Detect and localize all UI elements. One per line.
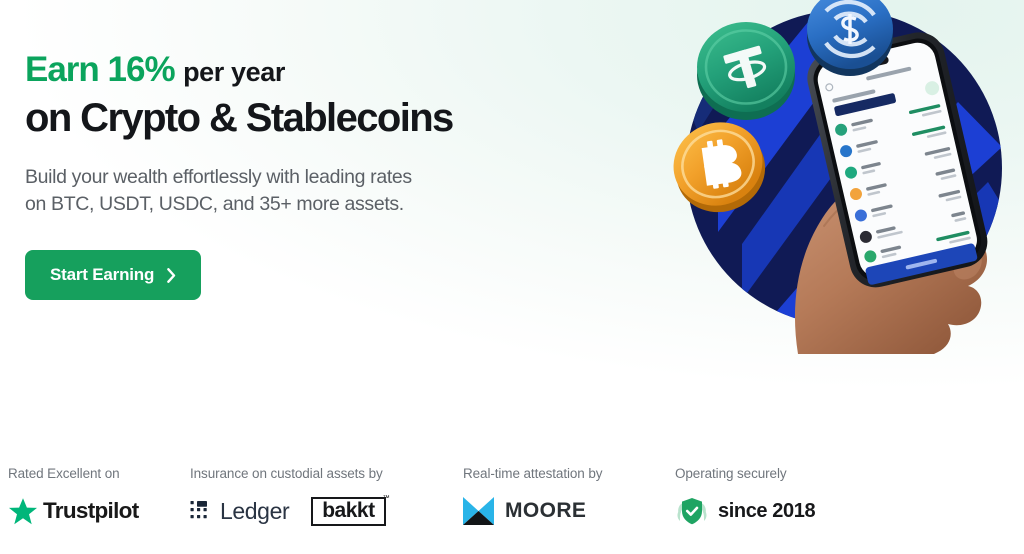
headline-accent-tail: per year (183, 57, 285, 87)
trust-column-operating: Operating securely since 2018 (675, 466, 815, 526)
ledger-dot-grid-icon (190, 500, 212, 522)
hero-copy: Earn 16% per year on Crypto & Stablecoin… (25, 50, 625, 300)
tether-coin (697, 22, 795, 120)
hero-section: Earn 16% per year on Crypto & Stablecoin… (0, 0, 1024, 554)
trust-column-trustpilot: Rated Excellent on Trustpilot (8, 466, 139, 526)
hero-illustration (658, 0, 1024, 354)
since-badge: since 2018 (675, 496, 815, 526)
trust-logo-group: Trustpilot (8, 496, 139, 526)
chevron-right-icon (167, 268, 176, 283)
trust-logo-group: MOORE (463, 496, 602, 526)
since-badge-label: since 2018 (718, 500, 815, 523)
page-title: Earn 16% per year (25, 50, 625, 92)
star-icon (8, 497, 38, 526)
start-earning-button-label: Start Earning (50, 265, 154, 285)
trust-caption: Operating securely (675, 466, 815, 484)
start-earning-button[interactable]: Start Earning (25, 250, 201, 300)
trust-logo-group: since 2018 (675, 496, 815, 526)
trademark-icon: ™ (383, 495, 390, 502)
hero-description-line-1: Build your wealth effortlessly with lead… (25, 164, 625, 191)
moore-wordmark: MOORE (505, 499, 586, 523)
trust-column-insurance: Insurance on custodial assets by (190, 466, 386, 526)
trust-column-attestation: Real-time attestation by MOORE (463, 466, 602, 526)
ledger-logo[interactable]: Ledger (190, 498, 289, 525)
trust-caption: Rated Excellent on (8, 466, 139, 484)
shield-check-laurel-icon (675, 496, 709, 526)
hero-illustration-graphic (658, 0, 1024, 354)
moore-mark-icon (463, 497, 494, 526)
headline-accent: Earn 16% (25, 50, 175, 89)
ledger-wordmark: Ledger (220, 498, 289, 525)
bakkt-logo[interactable]: bakkt ™ (311, 497, 385, 526)
hero-description: Build your wealth effortlessly with lead… (25, 164, 625, 218)
trust-badges-row: Rated Excellent on Trustpilot Insurance … (0, 466, 1024, 544)
trust-logo-group: Ledger bakkt ™ (190, 496, 386, 526)
bakkt-wordmark: bakkt (322, 500, 374, 522)
trust-caption: Real-time attestation by (463, 466, 602, 484)
moore-logo[interactable]: MOORE (463, 497, 586, 526)
trustpilot-logo[interactable]: Trustpilot (8, 497, 139, 526)
page-subtitle-heading: on Crypto & Stablecoins (25, 94, 625, 142)
trustpilot-wordmark: Trustpilot (43, 498, 139, 524)
hero-description-line-2: on BTC, USDT, USDC, and 35+ more assets. (25, 191, 625, 218)
trust-caption: Insurance on custodial assets by (190, 466, 386, 484)
